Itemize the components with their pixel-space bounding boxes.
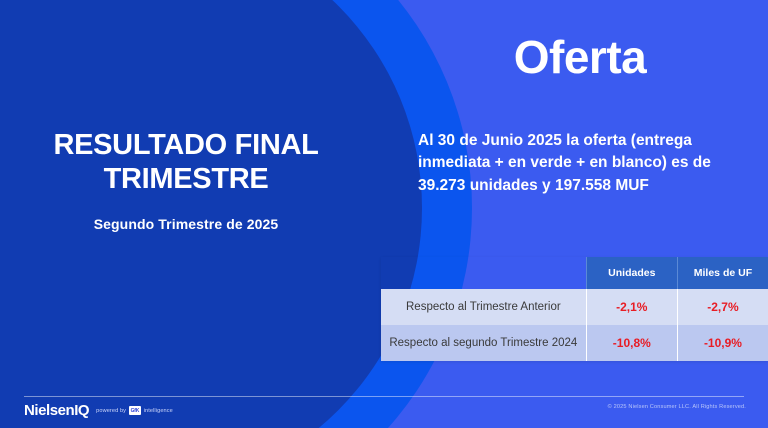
value-unidades-trimestre-anterior: -2,1%	[586, 289, 677, 325]
table-body: Respecto al Trimestre Anterior -2,1% -2,…	[381, 289, 768, 361]
brand-logo: NielsenIQ powered by GfK intelligence	[24, 402, 173, 419]
value-miles-uf-trimestre-anterior: -2,7%	[677, 289, 768, 325]
page-title: RESULTADO FINAL TRIMESTRE	[0, 128, 372, 196]
lead-paragraph: Al 30 de Junio 2025 la oferta (entrega i…	[418, 130, 748, 197]
row-label-trimestre-anterior: Respecto al Trimestre Anterior	[381, 289, 586, 325]
nielseniq-wordmark: NielsenIQ	[24, 402, 89, 419]
table-row: Respecto al segundo Trimestre 2024 -10,8…	[381, 325, 768, 361]
row-label-segundo-trimestre-2024: Respecto al segundo Trimestre 2024	[381, 325, 586, 361]
table-row: Respecto al Trimestre Anterior -2,1% -2,…	[381, 289, 768, 325]
powered-by-suffix: intelligence	[144, 408, 173, 414]
slide-canvas: RESULTADO FINAL TRIMESTRE Segundo Trimes…	[0, 0, 768, 428]
page-subtitle: Segundo Trimestre de 2025	[0, 216, 372, 232]
value-unidades-segundo-trimestre-2024: -10,8%	[586, 325, 677, 361]
powered-by-lockup: powered by GfK intelligence	[96, 406, 173, 415]
table-header-row: Unidades Miles de UF	[381, 257, 768, 289]
footer-divider	[24, 396, 744, 397]
value-miles-uf-segundo-trimestre-2024: -10,9%	[677, 325, 768, 361]
left-title-block: RESULTADO FINAL TRIMESTRE Segundo Trimes…	[0, 128, 372, 232]
comparison-table: Unidades Miles de UF Respecto al Trimest…	[381, 257, 768, 361]
table-header: Unidades Miles de UF	[381, 257, 768, 289]
copyright-text: © 2025 Nielsen Consumer LLC. All Rights …	[608, 404, 746, 410]
powered-by-prefix: powered by	[96, 408, 126, 414]
table-header-miles-de-uf: Miles de UF	[677, 257, 768, 289]
gfk-badge-icon: GfK	[129, 406, 142, 415]
table-header-blank	[381, 257, 586, 289]
table-header-unidades: Unidades	[586, 257, 677, 289]
section-heading: Oferta	[392, 30, 768, 84]
